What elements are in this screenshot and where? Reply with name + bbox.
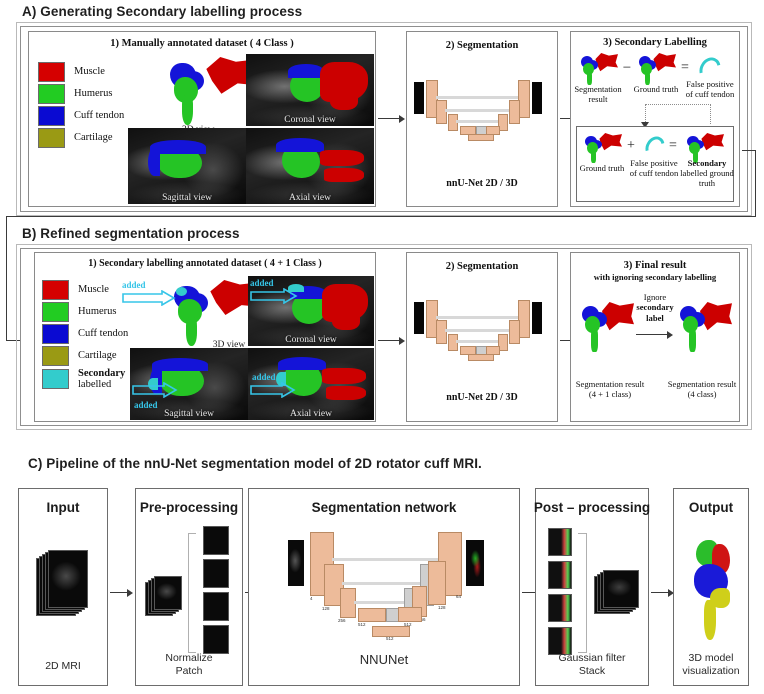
ignore-line-3: label [646, 313, 664, 323]
c-footer-input: 2D MRI [18, 660, 108, 673]
unet-label-512-l: 512 [358, 622, 366, 627]
arrow-b1-b2-head [399, 337, 405, 345]
view-label-coronal: Coronal view [248, 335, 374, 345]
c-footer-preprocessing: Normalize Patch [135, 652, 243, 678]
op-minus: − [620, 60, 634, 77]
unet-mini-b2 [414, 298, 550, 360]
unet-label-128-r: 128 [438, 605, 446, 610]
legend-swatch-humerus [38, 84, 65, 104]
c-heading-input: Input [18, 500, 108, 515]
legend-label-cartilage: Cartilage [78, 350, 116, 361]
c-heading-preprocessing: Pre-processing [133, 500, 245, 515]
unet-label-64: 64 [456, 594, 461, 599]
added-arrow-axial [250, 382, 296, 403]
feedback-line-right [755, 150, 756, 216]
legend-label-cuff-tendon: Cuff tendon [78, 328, 128, 339]
caption-false-positive-2: False positive of cuff tendon [628, 159, 680, 179]
panel-b-title: B) Refined segmentation process [22, 226, 240, 241]
c-footer-segmentation-network: NNUNet [248, 652, 520, 668]
ignore-line-2: secondary [636, 302, 673, 312]
b3-model-right [676, 300, 732, 354]
stage-a1-heading: 1) Manually annotated dataset ( 4 Class … [29, 38, 375, 49]
panel-a-title: A) Generating Secondary labelling proces… [22, 4, 302, 19]
b3-caption-left-l2: (4 + 1 class) [589, 389, 631, 399]
view-axial-a1: Axial view [246, 128, 374, 204]
stage-a3-heading: 3) Secondary Labelling [571, 37, 739, 48]
legend-label-muscle: Muscle [74, 66, 105, 77]
stage-a2-caption: nnU-Net 2D / 3D [406, 178, 558, 189]
postprocessing-output-stack [594, 568, 642, 616]
arrow-c1-c2-line [110, 592, 128, 593]
panel-c-title: C) Pipeline of the nnU-Net segmentation … [28, 456, 482, 471]
legend-swatch-cartilage [42, 346, 69, 366]
legend-swatch-cuff-tendon [42, 324, 69, 344]
c-footer-preprocessing-l2: Patch [176, 665, 203, 677]
caption-segmentation-result: Segmentation result [570, 85, 626, 105]
legend-swatch-cartilage [38, 128, 65, 148]
c-footer-nnunet: NNUNet [360, 652, 408, 667]
stage-b2-caption: nnU-Net 2D / 3D [406, 392, 558, 403]
legend-swatch-humerus [42, 302, 69, 322]
op-equals-2: = [666, 138, 680, 154]
feedback-line-bottom [6, 216, 756, 217]
output-3d-model [688, 538, 738, 644]
view-sagittal-a1: Sagittal view [128, 128, 246, 204]
b3-caption-right-l1: Segmentation result [668, 379, 737, 389]
op-equals: = [678, 60, 692, 76]
added-label-coronal: added [250, 278, 274, 288]
stage-b3-heading: 3) Final result [571, 260, 739, 271]
b3-caption-left-l1: Segmentation result [576, 379, 645, 389]
added-arrow-coronal [250, 288, 298, 309]
caption-secondary-bold: Secondary [688, 158, 727, 168]
view-label-axial: Axial view [246, 193, 374, 203]
legend-item: Cuff tendon [38, 106, 153, 126]
legend-label-humerus: Humerus [74, 88, 113, 99]
c-footer-output-l2: visualization [682, 665, 739, 677]
legend-label-muscle: Muscle [78, 284, 109, 295]
stage-b3-subheading: with ignoring secondary labelling [571, 272, 739, 282]
arrow-b1-b2-line [378, 340, 400, 341]
c-footer-postprocessing: Gaussian filter Stack [535, 652, 649, 678]
legend-label-cuff-tendon: Cuff tendon [74, 110, 124, 121]
b3-ignore-label: Ignore secondary label [628, 292, 682, 323]
legend-swatch-muscle [42, 280, 69, 300]
legend-swatch-secondary-labelled [42, 369, 69, 389]
a3-row2: + = Ground truth False positive of cuff … [580, 132, 732, 178]
caption-false-positive: False positive of cuff tendon [682, 80, 738, 100]
stage-b1-heading: 1) Secondary labelling annotated dataset… [35, 258, 375, 269]
legend-label-cartilage: Cartilage [74, 132, 112, 143]
op-plus: + [624, 138, 638, 154]
arrow-c4-c5-line [651, 592, 669, 593]
false-positive-glyph-2 [642, 133, 669, 161]
unet-label-256-l: 256 [338, 618, 346, 623]
legend-label-secondary-rest: labelled [78, 379, 111, 390]
unet-label-512-bottom: 512 [386, 636, 394, 641]
c-footer-input-l1: 2D MRI [45, 660, 81, 672]
feedback-line-top [742, 150, 756, 151]
postprocessing-bracket [578, 533, 587, 653]
c-footer-output: 3D model visualization [671, 652, 751, 678]
view-label-sagittal: Sagittal view [128, 193, 246, 203]
b3-model-left [578, 300, 634, 354]
arrow-a1-a2-line [378, 118, 400, 119]
feedback-line-left [6, 216, 7, 341]
view-label-sagittal: Sagittal view [130, 409, 248, 419]
legend-swatch-muscle [38, 62, 65, 82]
c-heading-output: Output [673, 500, 749, 515]
unet-label-4: 4 [310, 596, 313, 601]
b3-caption-right: Segmentation result (4 class) [664, 380, 740, 400]
legend-label-humerus: Humerus [78, 306, 117, 317]
b3-caption-right-l2: (4 class) [688, 389, 717, 399]
legend-item: Humerus [38, 84, 153, 104]
stage-a2-heading: 2) Segmentation [407, 40, 557, 51]
c-footer-output-l1: 3D model [689, 652, 734, 664]
caption-ground-truth: Ground truth [630, 85, 682, 95]
preprocessing-source-stack [145, 576, 185, 616]
arrow-a1-a2-head [399, 115, 405, 123]
b3-caption-left: Segmentation result (4 + 1 class) [572, 380, 648, 400]
unet-mini-a2 [414, 78, 550, 140]
added-arrow-sagittal [132, 382, 178, 403]
c-heading-postprocessing: Post – processing [531, 500, 653, 515]
view-coronal-a1: Coronal view [246, 54, 374, 126]
added-label-axial: added [252, 372, 276, 382]
c-heading-segmentation-network: Segmentation network [248, 500, 520, 515]
unet-large: 4 64 128 128 256 256 512 512 512 [288, 528, 488, 638]
stage-b2-heading: 2) Segmentation [407, 261, 557, 272]
a3-dashed-link [645, 104, 711, 124]
view-label-coronal: Coronal view [246, 115, 374, 125]
preprocessing-patch-stack [199, 526, 241, 656]
view-label-axial: Axial view [248, 409, 374, 419]
legend-item: Muscle [38, 62, 153, 82]
ignore-line-1: Ignore [644, 292, 666, 302]
legend-swatch-cuff-tendon [38, 106, 65, 126]
arrow-c1-c2-head [127, 589, 133, 597]
b3-ignore-arrow-head [667, 331, 673, 339]
c-footer-postprocessing-l2: Stack [579, 665, 605, 677]
preprocessing-bracket [188, 533, 196, 653]
a3-row1: − = Segmentation result Ground truth Fal… [574, 52, 738, 104]
added-arrow-3d [122, 290, 176, 311]
legend-label-secondary-bold: Secondary [78, 368, 125, 379]
unet-label-128-l: 128 [322, 606, 330, 611]
b3-ignore-arrow-line [636, 334, 668, 335]
added-label-3d: added [122, 280, 146, 290]
caption-secondary-rest: labelled ground truth [680, 168, 734, 188]
input-mri-stack [36, 548, 94, 618]
caption-ground-truth-2: Ground truth [576, 164, 628, 174]
c-footer-postprocessing-l1: Gaussian filter [558, 652, 625, 664]
legend-item: Cuff tendon [42, 324, 162, 344]
c-footer-preprocessing-l1: Normalize [165, 652, 212, 664]
